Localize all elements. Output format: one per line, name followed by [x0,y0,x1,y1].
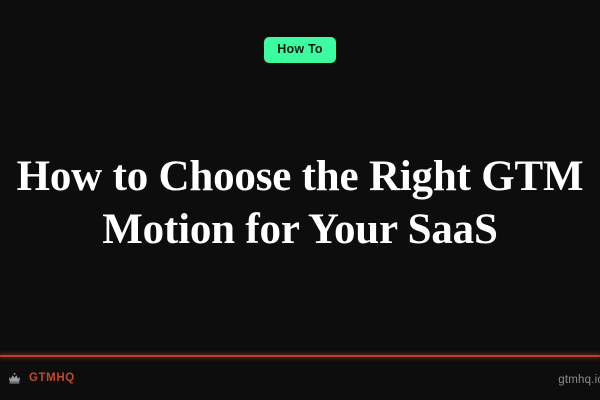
site-url-label[interactable]: gtmhq.io [558,374,600,386]
badge-row: How To [0,37,600,63]
brand-name-label: GTMHQ [29,373,75,385]
slide-canvas: How To How to Choose the Right GTM Motio… [0,0,600,400]
title-line-2: Motion for Your SaaS [102,203,497,256]
brand-block: GTMHQ [0,371,75,386]
page-title: How to Choose the Right GTM Motion for Y… [0,150,600,256]
site-url-block: gtmhq.io [558,370,600,388]
category-badge[interactable]: How To [264,37,335,63]
title-line-1: How to Choose the Right GTM [17,150,584,203]
crown-emblem-icon [7,371,22,386]
footer-bar: GTMHQ gtmhq.io [0,357,600,400]
